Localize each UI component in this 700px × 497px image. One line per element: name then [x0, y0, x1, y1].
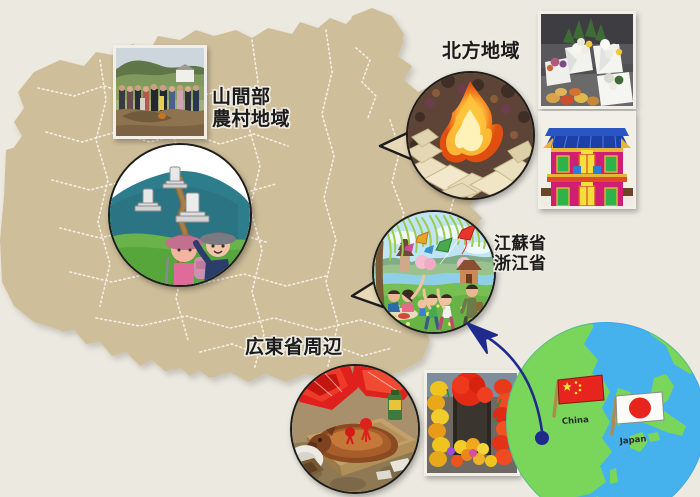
- white-flower-offering-photo: [538, 11, 636, 109]
- kite-flying-illustration: [372, 210, 496, 334]
- label-jiangsu-zhejiang: 江蘇省 浙江省: [494, 234, 547, 274]
- village-group-photo: [113, 45, 207, 139]
- label-north-region: 北方地域: [442, 40, 520, 62]
- infographic-canvas: China Japan 山間部 農村地域 北方地域 江蘇省 浙江省 広東省周辺: [0, 0, 700, 497]
- paper-house-offering-photo: [538, 111, 636, 209]
- china-flag-label: China: [562, 415, 590, 427]
- label-guangdong-area: 広東省周辺: [245, 336, 343, 358]
- east-asia-globe: China Japan: [498, 330, 700, 497]
- mountain-graves-illustration: [108, 143, 252, 287]
- roast-pig-offering-photo: [290, 364, 420, 494]
- burning-joss-paper-photo: [406, 71, 535, 200]
- china-origin-marker: [535, 431, 549, 445]
- label-mountain-rural: 山間部 農村地域: [212, 86, 290, 131]
